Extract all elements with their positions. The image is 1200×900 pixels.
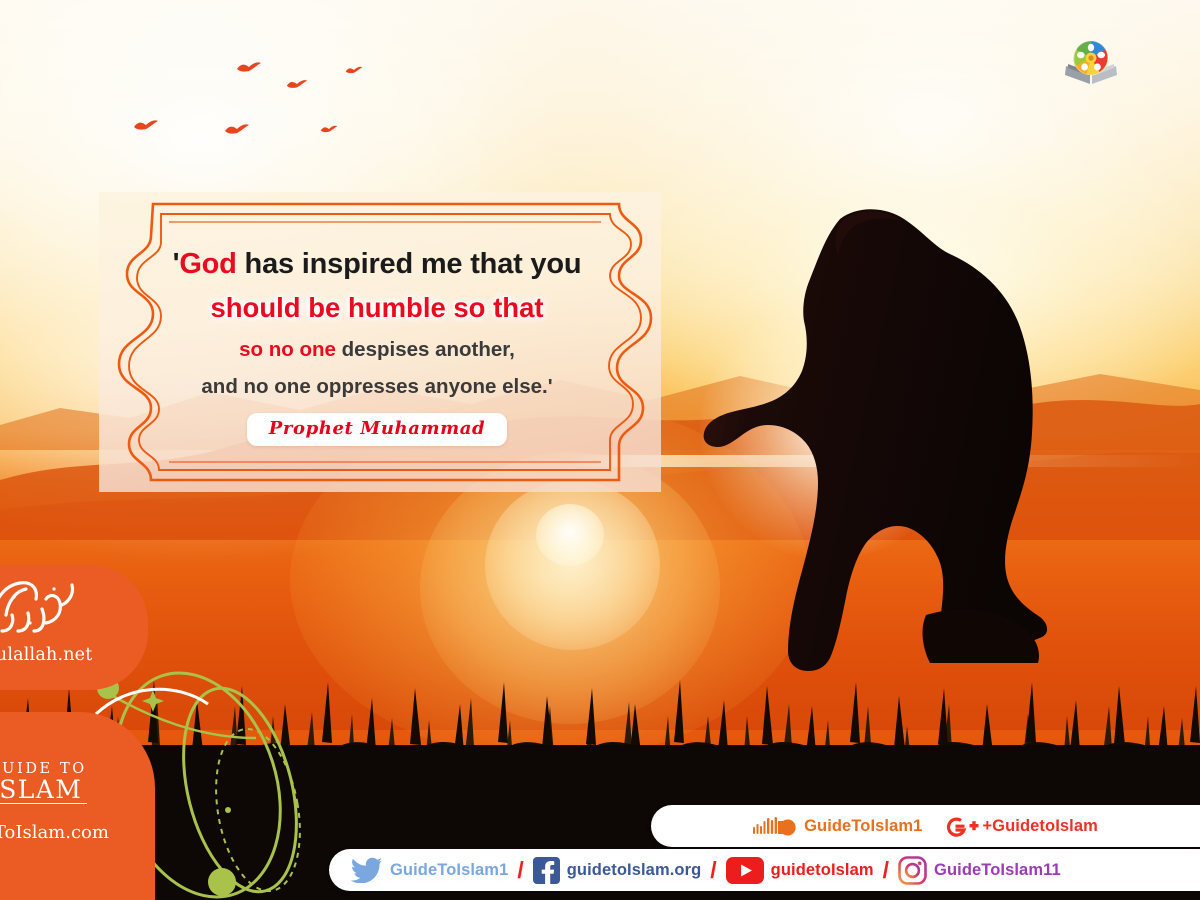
instagram-icon bbox=[898, 856, 927, 885]
instagram-label: GuideToIslam11 bbox=[934, 861, 1061, 880]
google-plus-label: +GuidetoIslam bbox=[982, 817, 1097, 836]
guide-to-islam-domain[interactable]: GuideToIslam.com bbox=[0, 822, 95, 843]
bird-icon bbox=[345, 65, 363, 75]
google-plus-icon bbox=[941, 813, 979, 839]
guide-to-islam-logo: GUIDE TO ISLAM bbox=[0, 752, 100, 814]
bird-icon bbox=[320, 124, 338, 134]
lens-flare-core bbox=[536, 504, 604, 566]
facebook-icon bbox=[533, 857, 560, 884]
rasoulallah-arabic-calligraphy bbox=[0, 575, 84, 641]
social-link-youtube[interactable]: guidetoIslam bbox=[726, 857, 874, 884]
quote-highlight-god: God bbox=[179, 248, 236, 280]
soundcloud-label: GuideToIslam1 bbox=[804, 817, 922, 836]
twitter-label: GuideToIslam1 bbox=[390, 861, 508, 880]
quote-attribution: Prophet Muhammad bbox=[247, 413, 507, 446]
social-link-instagram[interactable]: GuideToIslam11 bbox=[898, 856, 1061, 885]
youtube-label: guidetoIslam bbox=[771, 861, 874, 880]
globe-on-open-book-icon[interactable] bbox=[1062, 30, 1120, 88]
gti-word-islam: ISLAM bbox=[0, 777, 87, 804]
social-bar-primary: GuideToIslam1 +GuidetoIslam bbox=[651, 805, 1200, 847]
bird-icon bbox=[224, 122, 250, 136]
separator-1: / bbox=[517, 857, 523, 884]
twitter-icon bbox=[351, 857, 383, 883]
separator-3: / bbox=[883, 857, 889, 884]
guide-to-islam-brand-panel[interactable]: GUIDE TO ISLAM GuideToIslam.com bbox=[0, 712, 155, 900]
quote-line-4: and no one oppresses anyone else.' bbox=[201, 375, 552, 399]
facebook-label: guidetoIslam.org bbox=[567, 861, 702, 880]
social-link-twitter[interactable]: GuideToIslam1 bbox=[351, 857, 508, 883]
quote-line-1: 'God has inspired me that you bbox=[173, 248, 582, 281]
social-link-google-plus[interactable]: +GuidetoIslam bbox=[941, 813, 1097, 839]
quote-poster: 'God has inspired me that you should be … bbox=[0, 0, 1200, 900]
bird-icon bbox=[236, 60, 262, 74]
youtube-icon bbox=[726, 857, 764, 884]
quote-line-3: so no one despises another, bbox=[239, 338, 515, 362]
separator-2: / bbox=[710, 857, 716, 884]
quote-line-2: should be humble so that bbox=[210, 292, 543, 324]
quote-highlight-so-no-one: so no one bbox=[239, 338, 336, 361]
social-bar-secondary: GuideToIslam1 / guidetoIslam.org / guide… bbox=[329, 849, 1200, 891]
rasoulallah-brand-panel[interactable]: Rasoulallah.net bbox=[0, 565, 148, 690]
social-link-soundcloud[interactable]: GuideToIslam1 bbox=[753, 815, 922, 837]
social-link-facebook[interactable]: guidetoIslam.org bbox=[533, 857, 702, 884]
bird-icon bbox=[133, 118, 159, 132]
soundcloud-icon bbox=[753, 815, 797, 837]
quote-card: 'God has inspired me that you should be … bbox=[95, 188, 665, 496]
rasoulallah-domain[interactable]: Rasoulallah.net bbox=[0, 645, 96, 665]
bird-icon bbox=[286, 78, 308, 90]
